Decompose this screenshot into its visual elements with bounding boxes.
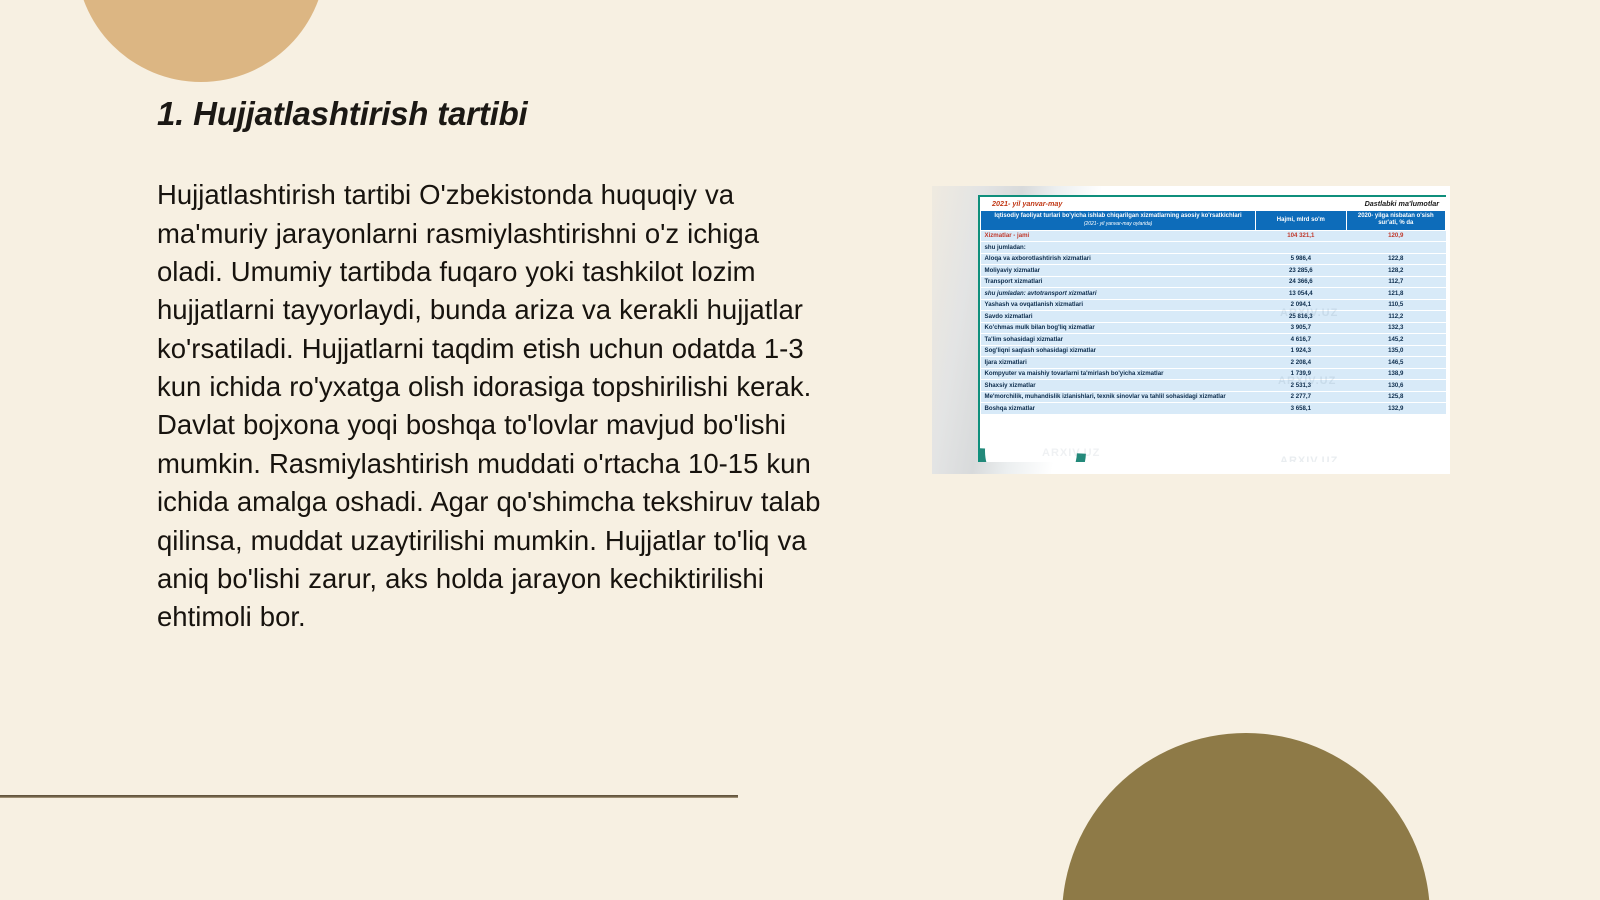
cell-volume: 13 054,4 (1256, 288, 1346, 300)
cell-growth: 132,3 (1346, 322, 1445, 334)
table-row: Shaxsiy xizmatlar2 531,3130,6 (981, 380, 1446, 392)
cell-volume: 25 816,3 (1256, 311, 1346, 323)
cell-label: Ijara xizmatlari (981, 357, 1256, 369)
watermark-text: ARXIV.UZ (1280, 455, 1338, 462)
body-paragraph: Hujjatlashtirish tartibi O'zbekistonda h… (157, 176, 829, 636)
table-row: Yashash va ovqatlanish xizmatlari2 094,1… (981, 299, 1446, 311)
cell-volume: 2 208,4 (1256, 357, 1346, 369)
cell-growth: 122,8 (1346, 253, 1445, 265)
table-row: shu jumladan: avtotransport xizmatlari13… (981, 288, 1446, 300)
table-header-row: Iqtisodiy faoliyat turlari bo'yicha ishl… (981, 211, 1446, 231)
decorative-circle-top (76, 0, 326, 82)
table-row: Moliyaviy xizmatlar23 285,6128,2 (981, 265, 1446, 277)
header-name-text: Iqtisodiy faoliyat turlari bo'yicha ishl… (994, 213, 1241, 219)
cell-growth: 145,2 (1346, 334, 1445, 346)
cell-volume: 3 905,7 (1256, 322, 1346, 334)
cell-label: Ta'lim sohasidagi xizmatlar (981, 334, 1256, 346)
cell-volume (1256, 242, 1346, 254)
cell-label: Transport xizmatlari (981, 276, 1256, 288)
cell-volume: 1 924,3 (1256, 345, 1346, 357)
cell-growth: 110,5 (1346, 299, 1445, 311)
cell-volume: 24 366,6 (1256, 276, 1346, 288)
cell-growth: 146,5 (1346, 357, 1445, 369)
cell-volume: 2 531,3 (1256, 380, 1346, 392)
table-row: Ijara xizmatlari2 208,4146,5 (981, 357, 1446, 369)
cell-growth: 128,2 (1346, 265, 1445, 277)
slide-root: 1. Hujjatlashtirish tartibi Hujjatlashti… (0, 0, 1600, 900)
figure-caption-row: 2021- yil yanvar-may Dastlabki ma'lumotl… (980, 197, 1446, 210)
table-head: Iqtisodiy faoliyat turlari bo'yicha ishl… (981, 211, 1446, 231)
table-row: Xizmatlar - jami104 321,1120,9 (981, 230, 1446, 242)
cell-growth: 112,7 (1346, 276, 1445, 288)
cell-growth: 138,9 (1346, 368, 1445, 380)
cell-label: Moliyaviy xizmatlar (981, 265, 1256, 277)
table-row: Sog'liqni saqlash sohasidagi xizmatlar1 … (981, 345, 1446, 357)
cell-growth: 120,9 (1346, 230, 1445, 242)
table-row: Ta'lim sohasidagi xizmatlar4 616,7145,2 (981, 334, 1446, 346)
cell-volume: 2 277,7 (1256, 391, 1346, 403)
cell-volume: 5 986,4 (1256, 253, 1346, 265)
divider-rule (0, 795, 738, 798)
cell-label: shu jumladan: (981, 242, 1256, 254)
table-row: Transport xizmatlari24 366,6112,7 (981, 276, 1446, 288)
cell-growth: 130,6 (1346, 380, 1445, 392)
cell-growth: 125,8 (1346, 391, 1445, 403)
cell-volume: 2 094,1 (1256, 299, 1346, 311)
table-body: Xizmatlar - jami104 321,1120,9shu jumlad… (981, 230, 1446, 414)
cell-label: Ko'chmas mulk bilan bog'liq xizmatlar (981, 322, 1256, 334)
header-cell-growth: 2020- yilga nisbatan o'sish sur'ati, % d… (1346, 211, 1445, 231)
cell-growth (1346, 242, 1445, 254)
caption-note: Dastlabki ma'lumotlar (1365, 199, 1439, 208)
cell-volume: 23 285,6 (1256, 265, 1346, 277)
caption-period: 2021- yil yanvar-may (992, 199, 1062, 208)
cell-growth: 112,2 (1346, 311, 1445, 323)
cell-label: Sog'liqni saqlash sohasidagi xizmatlar (981, 345, 1256, 357)
header-cell-volume: Hajmi, mlrd so'm (1256, 211, 1346, 231)
cell-label: Shaxsiy xizmatlar (981, 380, 1256, 392)
header-cell-name: Iqtisodiy faoliyat turlari bo'yicha ishl… (981, 211, 1256, 231)
cell-label: Savdo xizmatlari (981, 311, 1256, 323)
page-title: 1. Hujjatlashtirish tartibi (157, 96, 847, 132)
statistics-table-figure: 2021- yil yanvar-may Dastlabki ma'lumotl… (932, 186, 1450, 474)
cell-label: Yashash va ovqatlanish xizmatlari (981, 299, 1256, 311)
table-row: Kompyuter va maishiy tovarlarni ta'mirla… (981, 368, 1446, 380)
services-statistics-table: Iqtisodiy faoliyat turlari bo'yicha ishl… (980, 210, 1446, 415)
decorative-circle-bottom (1062, 733, 1430, 900)
table-row: Aloqa va axborotlashtirish xizmatlari5 9… (981, 253, 1446, 265)
cell-volume: 104 321,1 (1256, 230, 1346, 242)
cell-label: Xizmatlar - jami (981, 230, 1256, 242)
cell-growth: 132,9 (1346, 403, 1445, 415)
cell-volume: 3 658,1 (1256, 403, 1346, 415)
cell-label: shu jumladan: avtotransport xizmatlari (981, 288, 1256, 300)
figure-sheet: 2021- yil yanvar-may Dastlabki ma'lumotl… (978, 195, 1446, 462)
header-name-note: (2021- yil yanvar-may oylarida) (983, 221, 1253, 227)
cell-label: Kompyuter va maishiy tovarlarni ta'mirla… (981, 368, 1256, 380)
cell-volume: 4 616,7 (1256, 334, 1346, 346)
content-column: 1. Hujjatlashtirish tartibi Hujjatlashti… (157, 96, 847, 637)
table-row: shu jumladan: (981, 242, 1446, 254)
cell-growth: 121,8 (1346, 288, 1445, 300)
table-row: Ko'chmas mulk bilan bog'liq xizmatlar3 9… (981, 322, 1446, 334)
table-row: Savdo xizmatlari25 816,3112,2 (981, 311, 1446, 323)
cell-label: Aloqa va axborotlashtirish xizmatlari (981, 253, 1256, 265)
cell-volume: 1 739,9 (1256, 368, 1346, 380)
cell-growth: 135,0 (1346, 345, 1445, 357)
